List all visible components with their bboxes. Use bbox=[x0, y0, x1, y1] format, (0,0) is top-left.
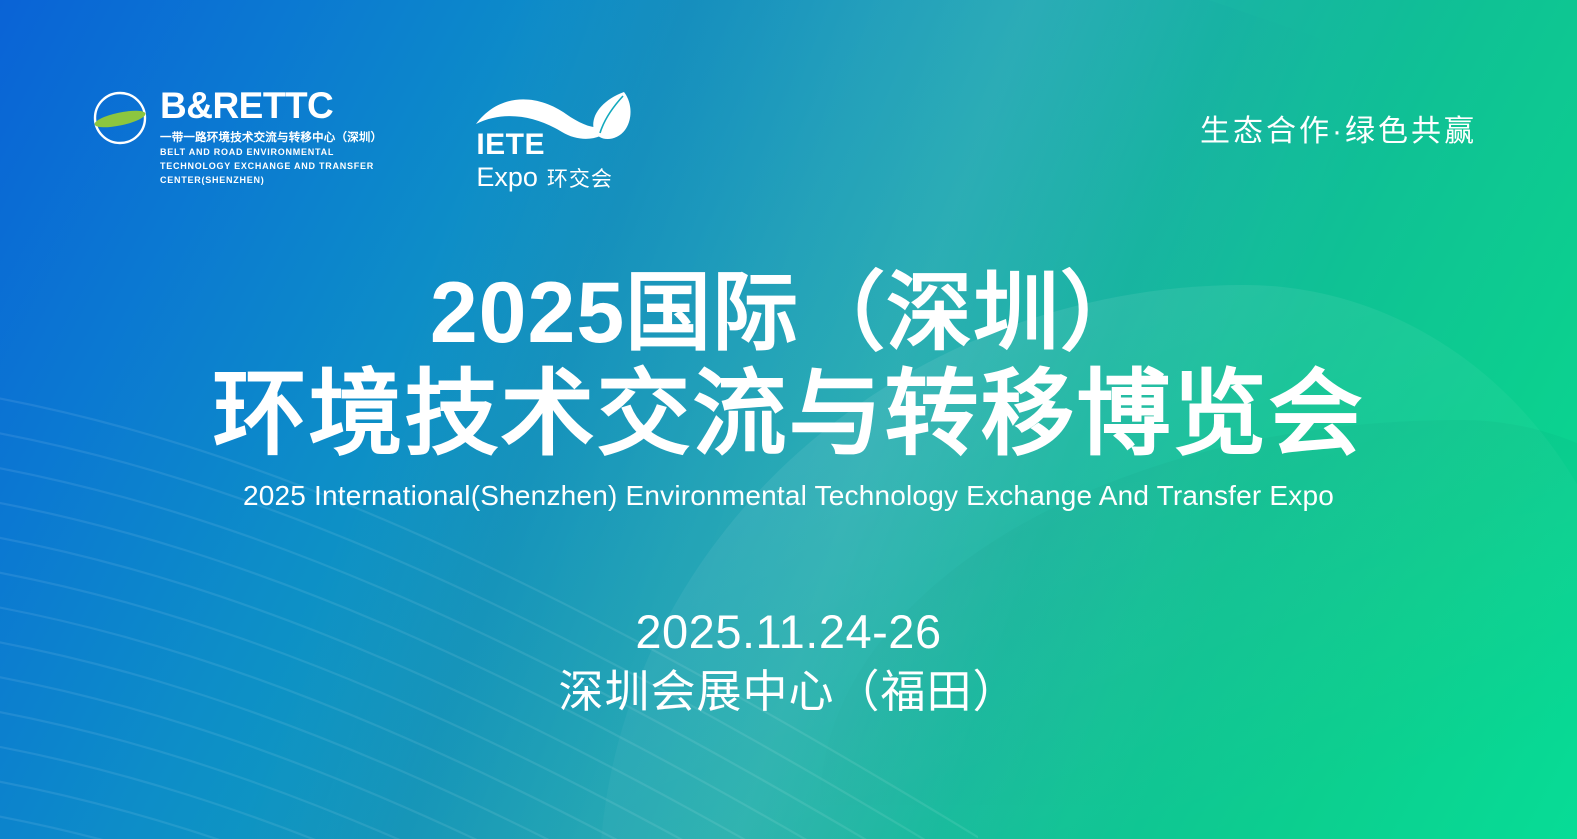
iete-expo-logo[interactable]: IETE Expo 环交会 bbox=[474, 88, 636, 188]
iete-acronym: IETE bbox=[476, 130, 613, 160]
event-banner: B&RETTC 一带一路环境技术交流与转移中心（深圳） BELT AND ROA… bbox=[0, 0, 1577, 839]
brettc-english-line-3: CENTER(SHENZHEN) bbox=[160, 175, 382, 187]
title-line-2: 环境技术交流与转移博览会 bbox=[0, 361, 1577, 466]
event-venue: 深圳会展中心（福田） bbox=[0, 665, 1577, 720]
event-info-block: 2025.11.24-26 深圳会展中心（福田） bbox=[0, 604, 1577, 720]
title-line-1: 2025国际（深圳） bbox=[0, 268, 1577, 359]
iete-expo-word: Expo bbox=[476, 164, 538, 191]
brettc-wordmark: B&RETTC bbox=[160, 88, 382, 124]
brettc-english-line-2: TECHNOLOGY EXCHANGE AND TRANSFER bbox=[160, 161, 382, 173]
title-english-subtitle: 2025 International(Shenzhen) Environment… bbox=[0, 480, 1577, 512]
slogan-text: 生态合作·绿色共赢 bbox=[1200, 106, 1477, 150]
title-block: 2025国际（深圳） 环境技术交流与转移博览会 2025 Internation… bbox=[0, 268, 1577, 512]
circle-globe-icon bbox=[92, 90, 148, 146]
iete-chinese-short: 环交会 bbox=[547, 169, 613, 190]
brettc-logo[interactable]: B&RETTC 一带一路环境技术交流与转移中心（深圳） BELT AND ROA… bbox=[92, 88, 382, 187]
brettc-chinese-name: 一带一路环境技术交流与转移中心（深圳） bbox=[160, 129, 382, 145]
event-date: 2025.11.24-26 bbox=[0, 604, 1577, 659]
logo-row: B&RETTC 一带一路环境技术交流与转移中心（深圳） BELT AND ROA… bbox=[92, 88, 636, 188]
brettc-english-line-1: BELT AND ROAD ENVIRONMENTAL bbox=[160, 147, 382, 159]
